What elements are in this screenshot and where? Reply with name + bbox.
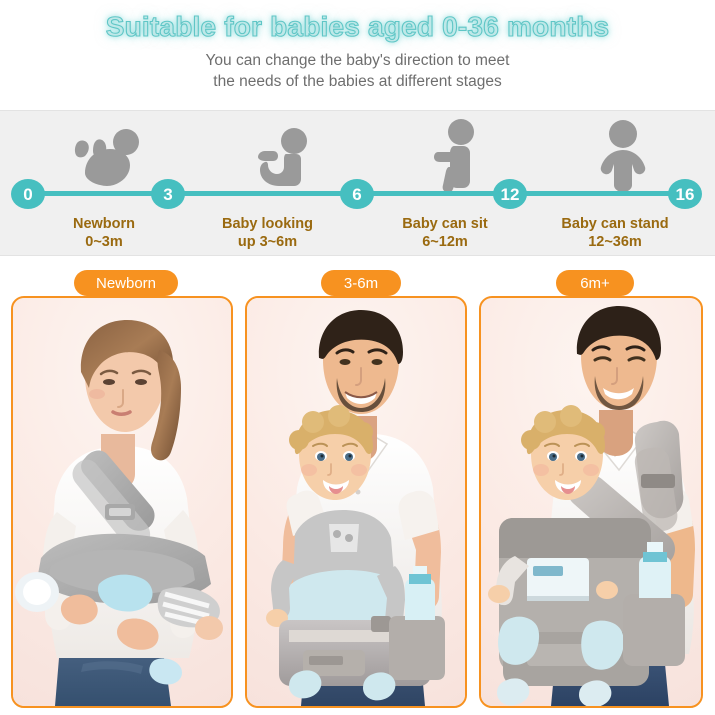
stage-name: Baby looking bbox=[185, 216, 350, 234]
panel-badge-3-6m: 3-6m bbox=[321, 270, 401, 296]
timeline-node-0: 0 bbox=[11, 179, 45, 209]
stage-range: 12~36m bbox=[530, 234, 700, 252]
stage-label-newborn: Newborn 0~3m bbox=[30, 216, 178, 251]
timeline-node-12: 12 bbox=[493, 179, 527, 209]
photo-panel-6m-plus bbox=[479, 296, 703, 708]
stage-label-standing: Baby can stand 12~36m bbox=[530, 216, 700, 251]
age-timeline: 0 3 6 12 16 Newborn 0~3m Baby looking up… bbox=[0, 110, 715, 256]
product-photo-newborn bbox=[13, 298, 231, 706]
panel-badge-newborn: Newborn bbox=[74, 270, 178, 296]
stage-name: Baby can sit bbox=[370, 216, 520, 234]
subtitle-line-1: You can change the baby's direction to m… bbox=[0, 50, 715, 71]
baby-sitting-icon bbox=[425, 119, 487, 191]
photo-panel-newborn bbox=[11, 296, 233, 708]
stage-label-sitting: Baby can sit 6~12m bbox=[370, 216, 520, 251]
photo-panel-3-6m bbox=[245, 296, 467, 708]
timeline-node-6: 6 bbox=[340, 179, 374, 209]
subtitle-line-2: the needs of the babies at different sta… bbox=[0, 71, 715, 92]
stage-name: Newborn bbox=[30, 216, 178, 234]
product-photo-6m-plus bbox=[481, 298, 701, 706]
stage-name: Baby can stand bbox=[530, 216, 700, 234]
baby-standing-icon bbox=[592, 119, 654, 191]
stage-range: up 3~6m bbox=[185, 234, 350, 252]
stage-range: 6~12m bbox=[370, 234, 520, 252]
panel-badge-6m-plus: 6m+ bbox=[556, 270, 634, 296]
baby-looking-up-icon bbox=[248, 127, 318, 189]
stage-label-looking-up: Baby looking up 3~6m bbox=[185, 216, 350, 251]
stage-range: 0~3m bbox=[30, 234, 178, 252]
page-subtitle: You can change the baby's direction to m… bbox=[0, 50, 715, 92]
timeline-node-16: 16 bbox=[668, 179, 702, 209]
timeline-node-3: 3 bbox=[151, 179, 185, 209]
product-photo-3-6m bbox=[247, 298, 465, 706]
page-title: Suitable for babies aged 0-36 months bbox=[0, 11, 715, 43]
header: Suitable for babies aged 0-36 months You… bbox=[0, 0, 715, 110]
newborn-curled-icon bbox=[64, 127, 148, 189]
infographic-page: Suitable for babies aged 0-36 months You… bbox=[0, 0, 715, 715]
